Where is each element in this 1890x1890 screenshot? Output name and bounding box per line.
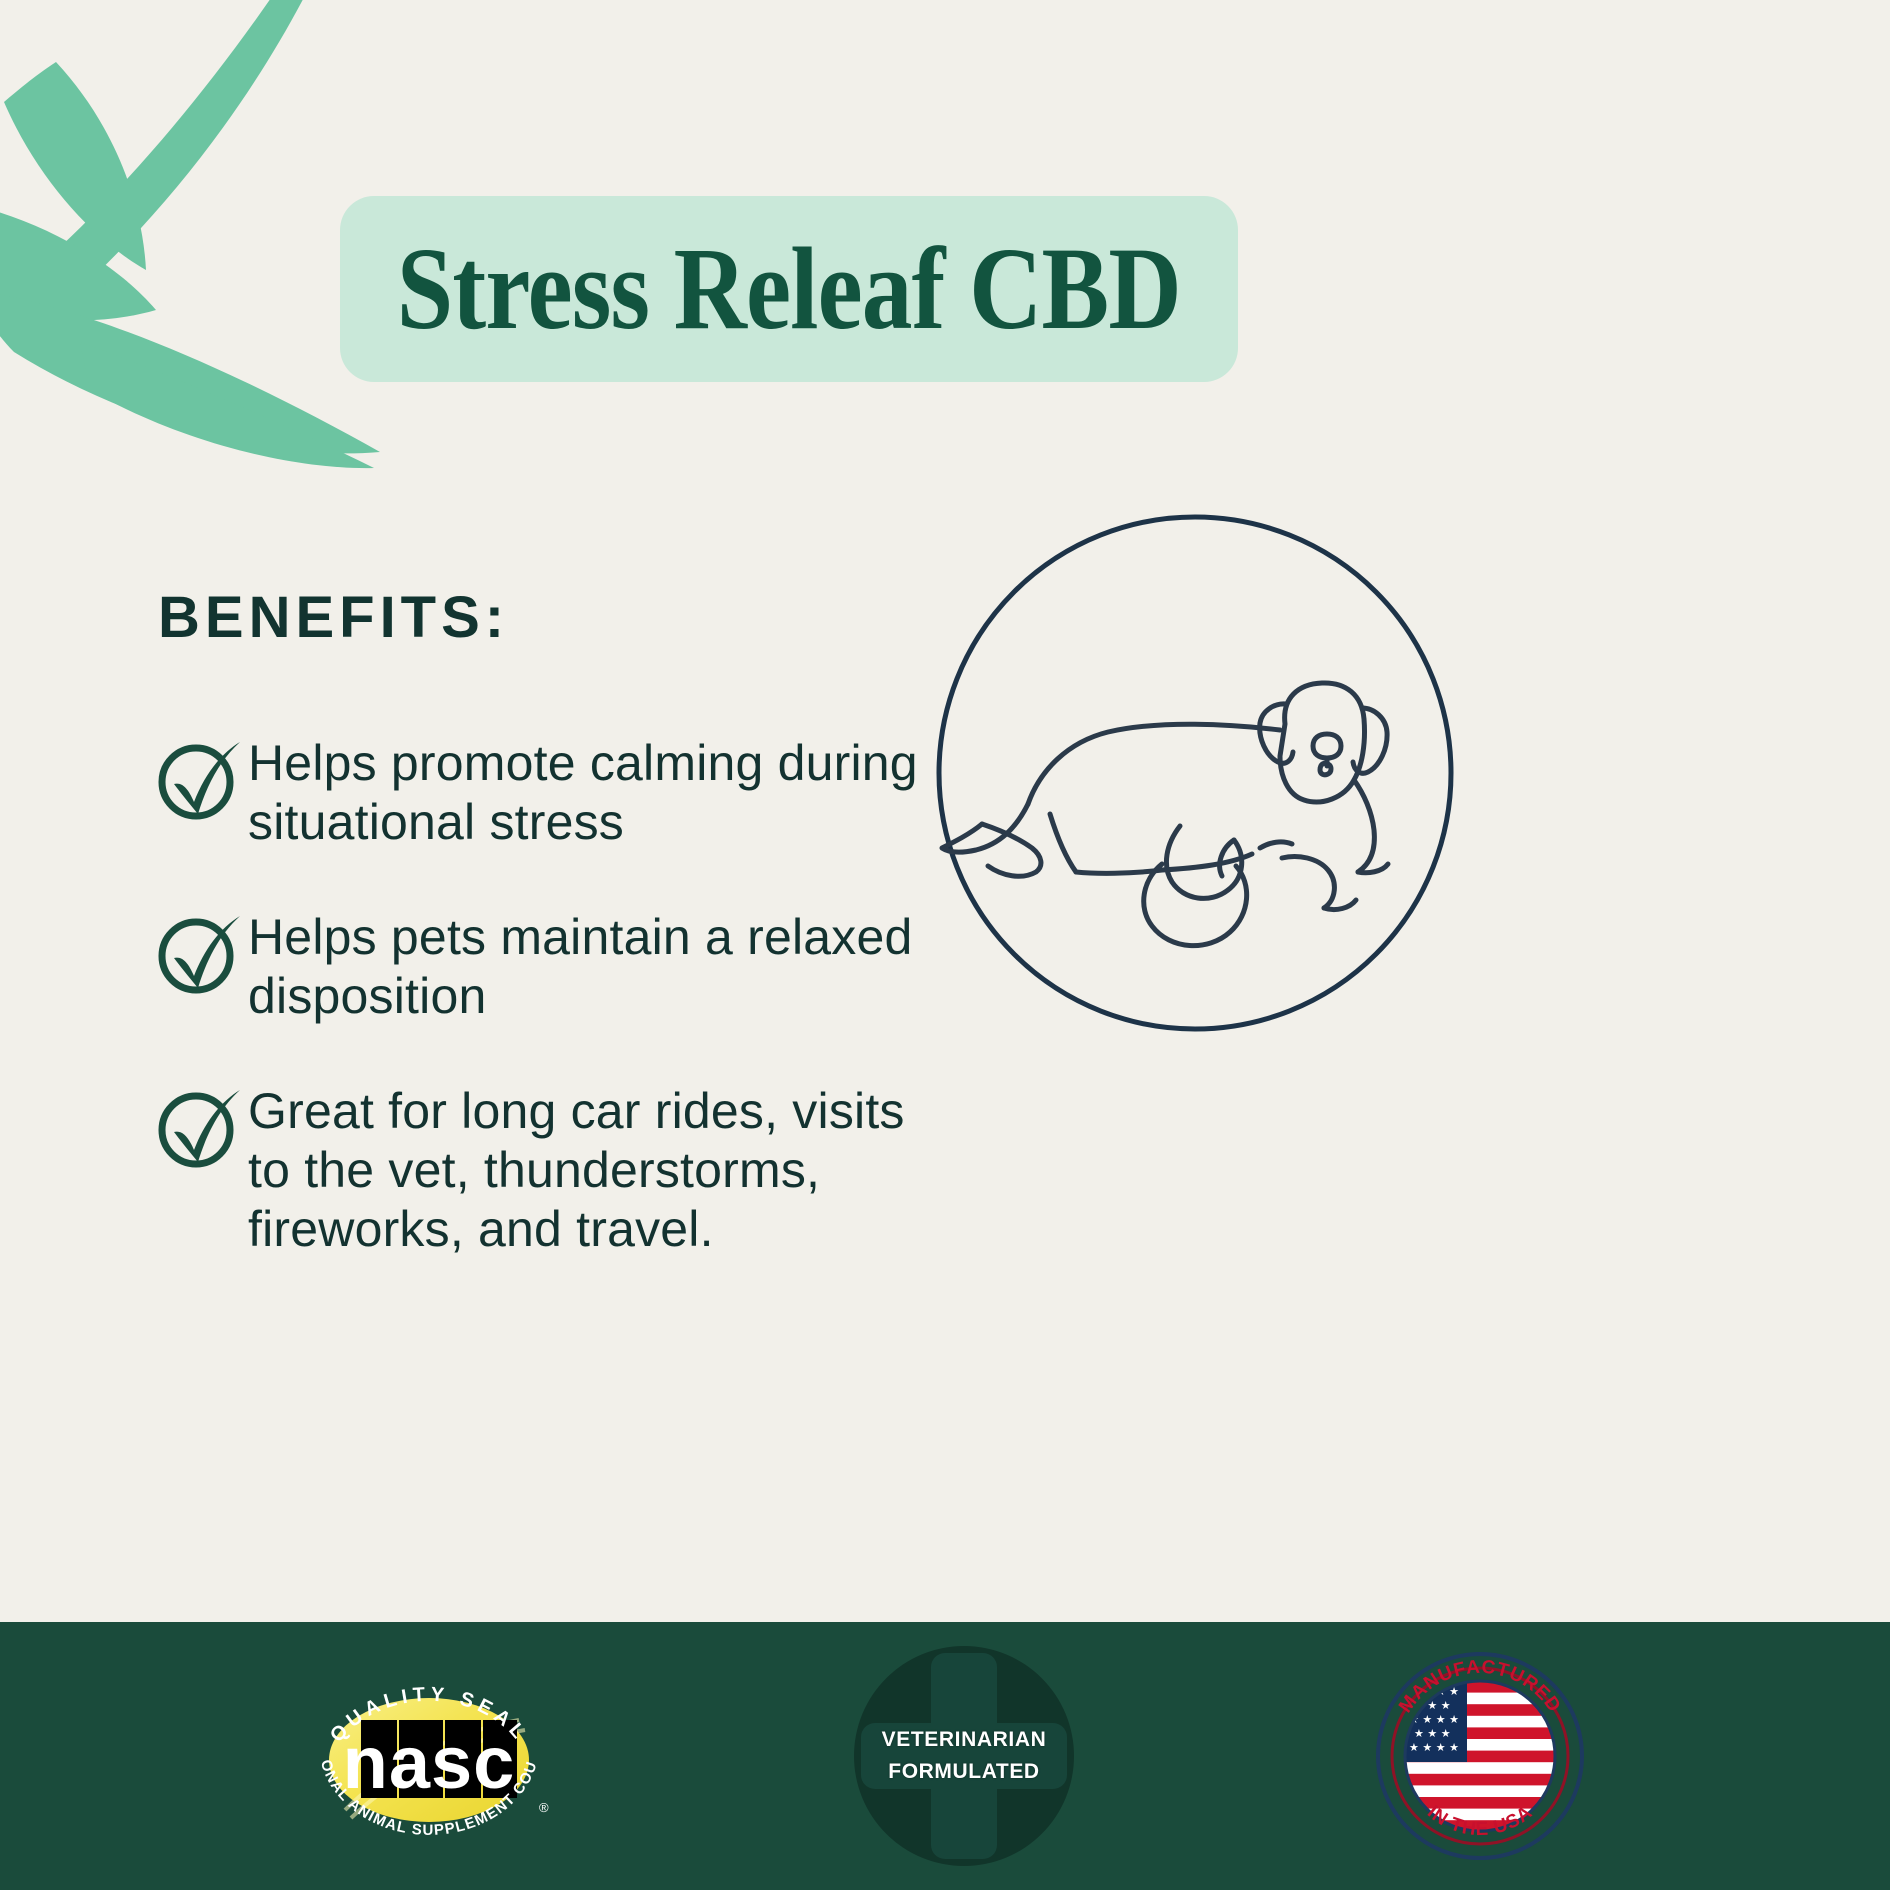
list-item: Helps promote calming during situational… xyxy=(152,730,942,852)
benefits-heading: BENEFITS: xyxy=(158,584,509,651)
benefits-list: Helps promote calming during situational… xyxy=(152,730,942,1311)
svg-text:★ ★ ★ ★: ★ ★ ★ ★ xyxy=(1409,1741,1459,1754)
manufactured-in-the-usa-badge: ★ ★ ★ ★ ★ ★ ★ ★ ★ ★ ★ ★ ★ ★ ★ ★ ★ ★ MANU… xyxy=(1375,1651,1585,1861)
list-item-label: Helps pets maintain a relaxed dispositio… xyxy=(248,904,942,1026)
list-item-label: Great for long car rides, visits to the … xyxy=(248,1078,942,1259)
dog-illustration xyxy=(930,508,1460,1038)
svg-text:★ ★ ★: ★ ★ ★ xyxy=(1414,1727,1451,1740)
infographic-canvas: Stress Releaf CBD BENEFITS: Helps promot… xyxy=(0,0,1890,1890)
certification-footer: nasc QUALITY SEAL NATIONAL ANIMAL SUPPLE… xyxy=(0,1622,1890,1890)
page-title: Stress Releaf CBD xyxy=(397,230,1181,348)
product-title-banner: Stress Releaf CBD xyxy=(340,196,1238,382)
list-item: Helps pets maintain a relaxed dispositio… xyxy=(152,904,942,1026)
nasc-wordmark: nasc xyxy=(343,1721,516,1804)
nasc-quality-seal-badge: nasc QUALITY SEAL NATIONAL ANIMAL SUPPLE… xyxy=(305,1642,553,1870)
veterinarian-formulated-badge: VETERINARIAN FORMULATED xyxy=(853,1645,1075,1867)
list-item: Great for long car rides, visits to the … xyxy=(152,1078,942,1259)
registered-mark: ® xyxy=(539,1800,549,1815)
list-item-label: Helps promote calming during situational… xyxy=(248,730,942,852)
circle-check-icon xyxy=(152,1084,248,1170)
circle-check-icon xyxy=(152,736,248,822)
circle-check-icon xyxy=(152,910,248,996)
